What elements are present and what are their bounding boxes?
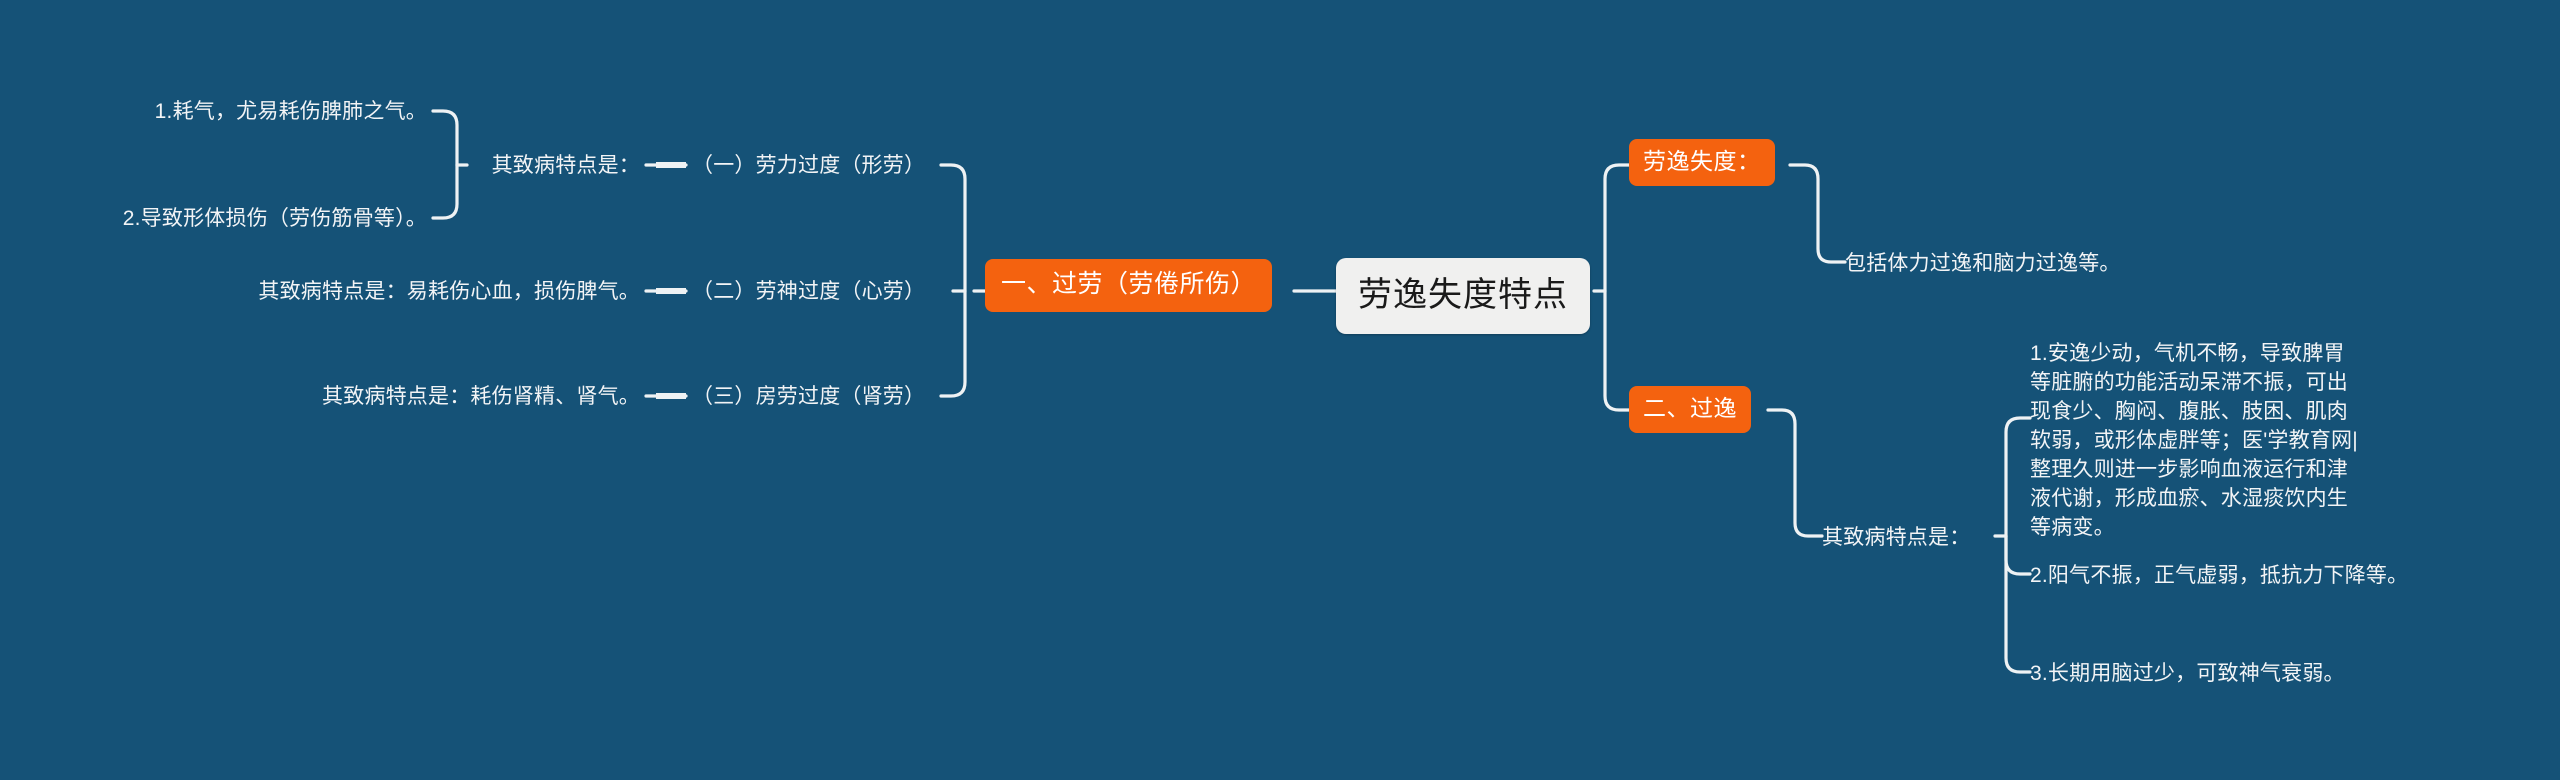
root-node-label: 劳逸失度特点 [1358, 276, 1568, 314]
subbranch-lead-text: 其致病特点是：耗伤肾精、肾气。 [322, 385, 640, 408]
subbranch-title-text: （三）房劳过度（肾劳） [692, 385, 925, 408]
overrest-lead-text: 其致病特点是： [1822, 526, 1970, 549]
overrest-detail-3[interactable]: 3.长期用脑过少，可致神气衰弱。 [2030, 660, 2345, 689]
link-right-spine-bottom [1605, 291, 1629, 410]
right-top-label: 劳逸失度： [1643, 148, 1761, 174]
branch-overrest-label: 二、过逸 [1643, 395, 1737, 421]
detail-text: 3.长期用脑过少，可致神气衰弱。 [2030, 662, 2345, 685]
subbranch-title-text: （二）劳神过度（心劳） [692, 280, 925, 303]
detail-overexertion-qi[interactable]: 1.耗气，尤易耗伤脾肺之气。 [60, 98, 427, 127]
subbranch-sexual-overexertion-title[interactable]: （三）房劳过度（肾劳） [692, 383, 925, 412]
overrest-detail-1[interactable]: 1.安逸少动，气机不畅，导致脾胃等脏腑的功能活动呆滞不振，可出现食少、胸闷、腹胀… [2030, 340, 2360, 543]
right-top-node[interactable]: 劳逸失度： [1629, 139, 1775, 186]
link-left-spine-1 [941, 165, 965, 291]
link-overrest-to-lead [1768, 410, 1822, 536]
detail-text: 1.耗气，尤易耗伤脾肺之气。 [155, 100, 427, 123]
link-left-spine-3 [941, 291, 965, 396]
link-lead-to-detail3 [2006, 536, 2030, 672]
link-top-to-note [1790, 165, 1845, 262]
branch-overwork-label: 一、过劳（劳倦所伤） [1001, 270, 1256, 298]
mindmap-canvas: 劳逸失度特点 一、过劳（劳倦所伤） （一）劳力过度（形劳） （二）劳神过度（心劳… [0, 0, 2560, 780]
overrest-lead[interactable]: 其致病特点是： [1822, 524, 1970, 553]
branch-overwork-node[interactable]: 一、过劳（劳倦所伤） [985, 259, 1272, 312]
link-lead-to-detail1 [2006, 418, 2030, 536]
subbranch-2-lead[interactable]: 其致病特点是：易耗伤心血，损伤脾气。 [146, 278, 640, 307]
subbranch-3-lead[interactable]: 其致病特点是：耗伤肾精、肾气。 [186, 383, 640, 412]
detail-text: 2.导致形体损伤（劳伤筋骨等）。 [123, 207, 427, 230]
branch-overrest-node[interactable]: 二、过逸 [1629, 386, 1751, 433]
subbranch-1-lead[interactable]: 其致病特点是： [294, 152, 640, 181]
subbranch-mental-overexertion-title[interactable]: （二）劳神过度（心劳） [692, 278, 925, 307]
dash-separators [656, 165, 686, 396]
right-top-note[interactable]: 包括体力过逸和脑力过逸等。 [1845, 250, 2121, 279]
detail-overexertion-body[interactable]: 2.导致形体损伤（劳伤筋骨等）。 [40, 205, 427, 234]
link-lead-to-detail2 [2006, 536, 2030, 574]
detail-text: 1.安逸少动，气机不畅，导致脾胃等脏腑的功能活动呆滞不振，可出现食少、胸闷、腹胀… [2030, 342, 2358, 539]
right-top-note-text: 包括体力过逸和脑力过逸等。 [1845, 252, 2121, 275]
subbranch-lead-text: 其致病特点是：易耗伤心血，损伤脾气。 [258, 280, 640, 303]
subbranch-lead-text: 其致病特点是： [492, 154, 640, 177]
overrest-detail-2[interactable]: 2.阳气不振，正气虚弱，抵抗力下降等。 [2030, 562, 2408, 591]
detail-text: 2.阳气不振，正气虚弱，抵抗力下降等。 [2030, 564, 2408, 587]
root-node[interactable]: 劳逸失度特点 [1336, 258, 1590, 334]
subbranch-title-text: （一）劳力过度（形劳） [692, 154, 925, 177]
link-right-spine-top [1605, 165, 1629, 291]
subbranch-physical-overexertion-title[interactable]: （一）劳力过度（形劳） [692, 152, 925, 181]
